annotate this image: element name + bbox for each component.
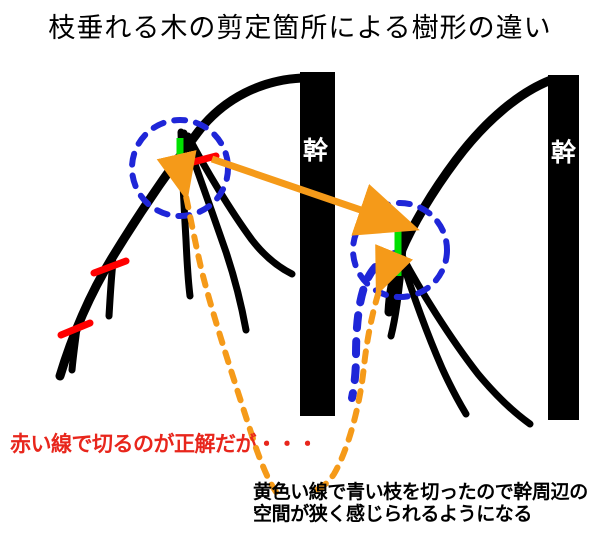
left-twig-2 <box>72 328 77 370</box>
note-correct-cut: 赤い線で切るのが正解だが・・・ <box>10 428 318 458</box>
illustration-canvas: 枝垂れる木の剪定箇所による樹形の違い 幹 幹 赤い線で切るのが正解だが・・・ 黄… <box>0 0 600 550</box>
trunk-right <box>548 75 579 420</box>
pruning-diagram <box>0 0 600 550</box>
note-result-explanation: 黄色い線で青い枝を切ったので幹周辺の 空間が狭く感じられるようになる <box>253 482 588 526</box>
right-sub-branch-3 <box>402 256 530 424</box>
trunk-label-left: 幹 <box>303 138 328 163</box>
note-result-line-2: 空間が狭く感じられるようになる <box>253 504 588 526</box>
note-result-line-1: 黄色い線で青い枝を切ったので幹周辺の <box>253 482 588 504</box>
trunk-label-right: 幹 <box>551 140 576 165</box>
right-sub-branch-2 <box>400 254 466 414</box>
trunk-left <box>300 72 335 416</box>
right-tree-group <box>352 75 579 424</box>
page-title: 枝垂れる木の剪定箇所による樹形の違い <box>0 6 600 45</box>
